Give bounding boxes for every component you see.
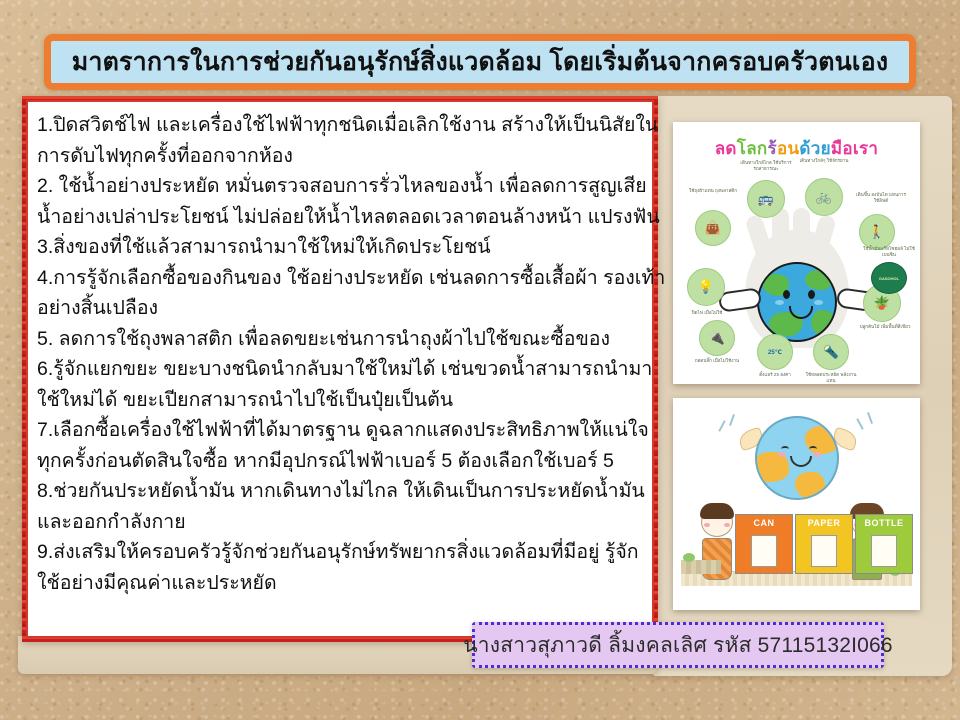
icon-caption: ปิดไฟ เมื่อไม่ใช้ — [681, 310, 733, 316]
infographic-title-part: ลด — [715, 139, 737, 158]
list-item: 8.ช่วยกันประหยัดน้ำมัน หากเดินทางไม่ไกล … — [37, 476, 645, 507]
hair-icon — [700, 503, 734, 519]
bin-label: CAN — [754, 518, 775, 528]
list-item: 5. ลดการใช้ถุงพลาสติก เพื่อลดขยะเช่นการน… — [37, 324, 645, 355]
bus-icon: 🚌 — [747, 180, 785, 218]
list-item: อย่างสิ้นเปลือง — [37, 293, 645, 324]
fuel-label: GASOHOL — [879, 276, 899, 281]
infographic-title-part: อน — [777, 139, 799, 158]
icon-caption: ถอดปลั๊ก เมื่อไม่ใช้งาน — [691, 358, 743, 364]
recycle-bin-bottle: BOTTLE — [855, 514, 913, 574]
bicycle-icon: 🚲 — [805, 178, 843, 216]
list-item: 7.เลือกซื้อเครื่องใช้ไฟฟ้าที่ได้มาตรฐาน … — [37, 415, 645, 446]
cloth-bag-icon: 👜 — [695, 210, 731, 246]
infographic-title-part: โลก — [737, 139, 768, 158]
title-banner: มาตราการในการช่วยกันอนุรักษ์สิ่งแวดล้อม … — [44, 34, 916, 90]
list-item: ใช้อย่างมีคุณค่าและประหยัด — [37, 568, 645, 599]
planter-row — [681, 560, 721, 574]
author-name-badge: นางสาวสุภาวดี ลิ้มงคลเลิศ รหัส 57115132I… — [472, 622, 884, 668]
page-title: มาตราการในการช่วยกันอนุรักษ์สิ่งแวดล้อม … — [72, 50, 889, 75]
light-switch-icon: 💡 — [687, 268, 725, 306]
icon-caption: ปลูกต้นไม้ เพิ่มพื้นที่สีเขียว — [859, 324, 911, 330]
thermostat-label: 25℃ — [768, 349, 782, 356]
icon-caption: ใช้ถุงผ้าแทน ถุงพลาสติก — [687, 188, 739, 194]
bin-label: PAPER — [808, 518, 841, 528]
infographic-title-part: ร้ — [768, 139, 777, 158]
blush-icon — [724, 523, 730, 527]
infographic-title-part: ด้วย — [799, 139, 830, 158]
winged-earth-icon — [755, 416, 839, 500]
blush-icon — [704, 523, 710, 527]
icon-caption: ใช้หลอดประหยัด พลังงานแทน — [805, 372, 857, 384]
bin-label: BOTTLE — [865, 518, 904, 528]
recycle-bin-can: CAN — [735, 514, 793, 574]
list-item: 6.รู้จักแยกขยะ ขยะบางชนิดนำกลับมาใช้ใหม่… — [37, 354, 645, 385]
sparkle-icon — [729, 414, 735, 426]
author-name-text: นางสาวสุภาวดี ลิ้มงคลเลิศ รหัส 57115132I… — [463, 629, 893, 662]
infographic-title: ลดโลกร้อนด้วยมือเรา — [673, 135, 920, 162]
content-panel: 1.ปิดสวิตช์ไฟ และเครื่องใช้ไฟฟ้าทุกชนิดเ… — [22, 96, 658, 642]
list-item: 4.การรู้จักเลือกซื้อของกินของ ใช้อย่างปร… — [37, 263, 645, 294]
icon-caption: เดินขึ้น ลงบันได แทนการใช้ลิฟต์ — [855, 192, 907, 204]
sprout-icon — [683, 553, 695, 562]
bottle-icon — [871, 535, 897, 567]
recycle-bin-paper: PAPER — [795, 514, 853, 574]
list-item: 1.ปิดสวิตช์ไฟ และเครื่องใช้ไฟฟ้าทุกชนิดเ… — [37, 110, 645, 141]
list-item: ทุกครั้งก่อนตัดสินใจซื้อ หากมีอุปกรณ์ไฟฟ… — [37, 446, 645, 477]
air-conditioner-icon: 25℃ — [757, 334, 793, 370]
list-item: น้ำอย่างเปล่าประโยชน์ ไม่ปล่อยให้น้ำไหลต… — [37, 202, 645, 233]
can-icon — [751, 535, 777, 567]
list-item: ใช้ใหม่ได้ ขยะเปียกสามารถนำไปใช้เป็นปุ๋ย… — [37, 385, 645, 416]
icon-caption: เดินทางใกล้ๆ ใช้จักรยาน — [798, 158, 850, 164]
list-item: การดับไฟทุกครั้งที่ออกจากห้อง — [37, 141, 645, 172]
list-item: 2. ใช้น้ำอย่างประหยัด หมั่นตรวจสอบการรั่… — [37, 171, 645, 202]
icon-caption: ตั้งแอร์ 25 องศา — [749, 372, 801, 378]
earth-globe-icon — [757, 262, 837, 342]
icon-caption: เดินทางใกล้ไกล ใช้บริการรถสาธารณะ — [740, 160, 792, 172]
paper-icon — [811, 535, 837, 567]
list-item: และออกกำลังกาย — [37, 507, 645, 538]
child-head — [701, 507, 733, 537]
unplug-icon: 🔌 — [699, 320, 735, 356]
measures-list: 1.ปิดสวิตช์ไฟ และเครื่องใช้ไฟฟ้าทุกชนิดเ… — [37, 110, 645, 598]
list-item: 9.ส่งเสริมให้ครอบครัวรู้จักช่วยกันอนุรัก… — [37, 537, 645, 568]
list-item: 3.สิ่งของที่ใช้แล้วสามารถนำมาใช้ใหม่ให้เ… — [37, 232, 645, 263]
sparkle-icon — [856, 418, 863, 430]
slide-canvas: มาตราการในการช่วยกันอนุรักษ์สิ่งแวดล้อม … — [0, 0, 960, 720]
sparkle-icon — [867, 412, 873, 424]
infographic-title-part: มือเรา — [831, 139, 878, 158]
icon-caption: ใช้น้ำมันแก๊สโซฮอล์ ไม่ใช้เบนซิน — [863, 246, 915, 258]
infographic-image: ลดโลกร้อนด้วยมือเรา 👜 ใช้ถุงผ้าแทน ถุงพล… — [673, 122, 920, 384]
stairs-icon: 🚶 — [859, 214, 895, 250]
cfl-bulb-icon: 🔦 — [813, 334, 849, 370]
recycling-illustration: CAN PAPER BOTTLE — [673, 398, 920, 610]
gasohol-icon: GASOHOL — [871, 262, 907, 294]
sparkle-icon — [718, 420, 725, 432]
